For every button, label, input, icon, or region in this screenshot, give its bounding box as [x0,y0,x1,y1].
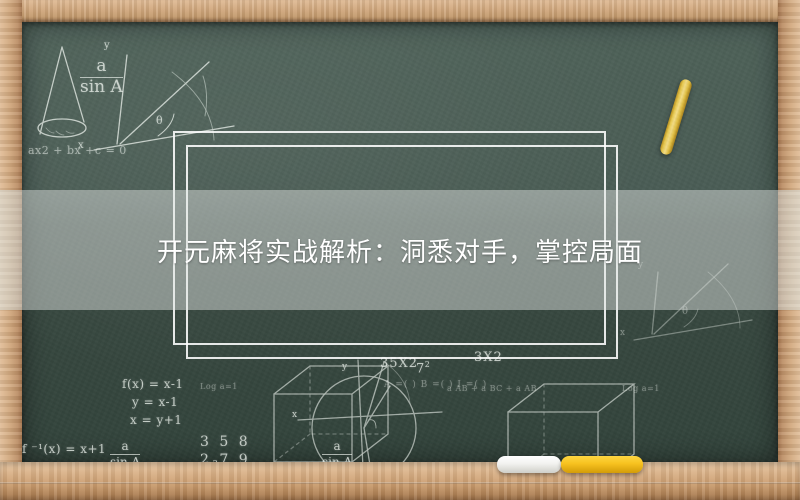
wood-frame-top [0,0,800,22]
chalk-equation-quadratic: ax2 + bx +c = 0 [28,144,127,157]
chalk-fraction-a-over-sinA-1: a sin A [80,58,123,97]
chalk-equation-fx-3: x = y+1 [130,413,182,427]
chalkboard-banner-stage: a sin A y x θ ax2 + bx +c = 0 y x θ f(x)… [0,0,800,500]
page-title-text: 开元麻将实战解析：洞悉对手，掌控局面 [157,232,643,269]
chalk-equation-fx-2: y = x-1 [132,395,178,409]
chalk-axis-label-y-1: y [104,40,110,51]
chalk-fraction-a-over-sinA-2: a sin A [110,440,140,462]
chalk-sum-row-1: 3 5 8 [200,434,251,450]
chalk-seven-exponent: 2 [425,360,431,369]
chalk-sum-row-2: 2 7 9 [200,452,251,462]
chalk-fraction-a-over-sinA-3: a sin A [322,440,352,462]
chalk-inverse-function: f ⁻¹(x) = x+1 [22,442,106,456]
chalk-axis-label-x-2: x [620,328,626,338]
chalk-circle-axis-label-x: x [292,410,298,420]
chalk-seven-squared: 72 [416,360,430,376]
chalk-stick-yellow-ledge[interactable] [561,456,643,473]
chalk-circle-axis-label-y: y [342,362,348,372]
chalk-ledge-line [0,482,800,484]
chalk-angle-label-theta-1: θ [156,114,163,127]
chalk-log-a1-label: Log a=1 [200,382,238,391]
chalk-matrix-definitions: A =( ) B =( ) I =( ) [384,380,487,390]
wood-frame-bottom [0,462,800,500]
chalk-equation-fx-1: f(x) = x-1 [122,377,184,391]
chalk-log-a1-label-2: Log a=1 [622,384,660,393]
chalk-stick-white-ledge[interactable] [497,456,561,473]
page-title: 开元麻将实战解析：洞悉对手，掌控局面 [0,190,800,310]
